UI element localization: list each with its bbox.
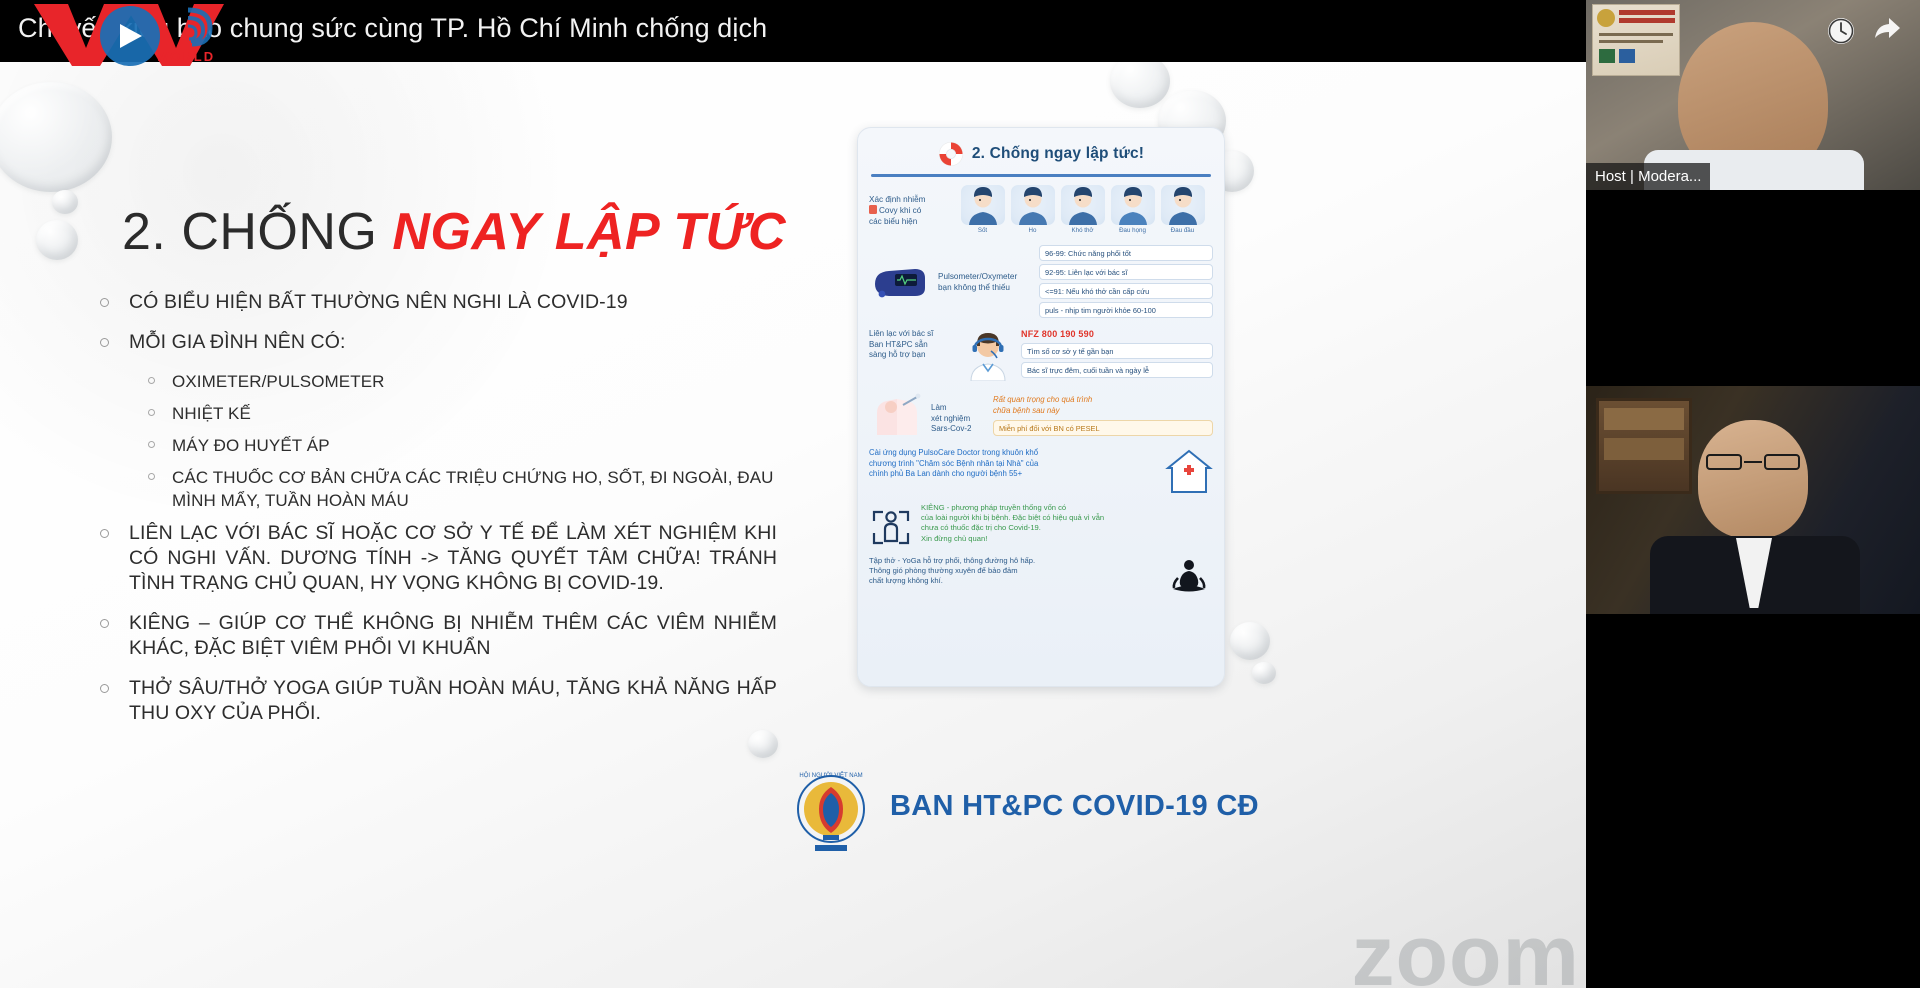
glasses-icon [1704,454,1802,470]
symptoms-lead-line3: các biểu hiện [869,216,953,227]
doctor-headset-icon [961,329,1015,381]
oximeter-value-row: 92-95: Liên lạc với bác sĩ [1039,264,1213,280]
infographic-title: 2. Chống ngay lập tức! [972,145,1144,163]
doctor-lead-line2: Ban HT&PC sẵn [869,340,955,351]
app-section: Cài ứng dụng PulsoCare Doctor trong khuô… [869,448,1213,494]
swab-test-icon [869,391,925,437]
infographic-header: 2. Chống ngay lập tức! [869,137,1213,171]
bullet-text: KIÊNG – GIÚP CƠ THỂ KHÔNG BỊ NHIỄM THÊM … [129,611,777,661]
slide-title: 2. CHỐNG NGAY LẬP TỨC [122,202,786,262]
testing-lead-line2: xét nghiệm [931,414,987,425]
pulse-oximeter-icon [869,262,931,302]
warning-icon [869,205,877,214]
symptom-caption: Đau đầu [1159,227,1206,234]
lifebuoy-icon [938,141,964,167]
host-name-label: Host | Modera... [1586,163,1710,190]
symptom-person-icon [1161,185,1205,225]
doctor-info-row: Tìm số cơ sở y tế gần bạn [1021,343,1213,359]
bullet-text: THỞ SÂU/THỞ YOGA GIÚP TUẦN HOÀN MÁU, TĂN… [129,676,777,726]
slide-title-accent: NGAY LẬP TỨC [392,203,786,261]
symptoms-lead: Xác định nhiễm Covy khi có các biểu hiện [869,185,953,227]
svg-text:WORLD: WORLD [156,49,215,64]
participant-video-rail: Host | Modera... [1586,0,1920,988]
shelf-row [1604,438,1684,460]
covid-infographic-card: 2. Chống ngay lập tức! Xác định nhiễm Co… [857,127,1225,687]
bullet-item: CÓ BIỂU HIỆN BẤT THƯỜNG NÊN NGHI LÀ COVI… [100,290,800,315]
symptoms-section: Xác định nhiễm Covy khi có các biểu hiện… [869,185,1213,234]
symptom-person-icon [1111,185,1155,225]
association-logo: HỘI NGƯỜI VIỆT NAM [793,767,869,859]
yoga-section: Tập thở - YoGa hỗ trợ phổi, thông đường … [869,556,1213,596]
bullet-item: MÁY ĐO HUYẾT ÁP [148,434,800,457]
video-tile-host[interactable]: Host | Modera... [1586,0,1920,190]
testing-note-line1: Rất quan trọng cho quá trình [993,395,1213,406]
symptom-person-icon [1061,185,1105,225]
oximeter-lead: Pulsometer/Oxymeter bạn không thể thiếu [938,271,1030,293]
bullet-marker-icon [100,684,109,693]
doctor-info-row: Bác sĩ trực đêm, cuối tuần và ngày lễ [1021,362,1213,378]
yoga-line2: Thông gió phòng thường xuyên để bảo đảm [869,566,1157,576]
testing-lead-line1: Làm [931,403,987,414]
home-care-icon [1165,448,1213,494]
zoom-webinar-screen: Chuyến kiều bào chung sức cùng TP. Hồ Ch… [0,0,1920,988]
testing-lead: Làm xét nghiệm Sars-Cov-2 [931,391,987,435]
symptom-item: Đau đầu [1159,185,1206,234]
bullet-marker-icon [100,338,109,347]
hotline-number: NFZ 800 190 590 [1021,329,1213,339]
bullet-item: THỞ SÂU/THỞ YOGA GIÚP TUẦN HOÀN MÁU, TĂN… [100,676,800,726]
testing-free-note: Miễn phí đối với BN có PESEL [993,420,1213,436]
app-text: Cài ứng dụng PulsoCare Doctor trong khuô… [869,448,1157,480]
app-line1: Cài ứng dụng PulsoCare Doctor trong khuô… [869,448,1157,459]
bubble-decor [0,82,112,192]
symptom-icon-row: SốtHoKhó thởĐau họngĐau đầu [959,185,1213,234]
symptom-caption: Sốt [959,227,1006,234]
video-tile-empty-upper[interactable] [1586,190,1920,386]
bullet-marker-icon [148,409,155,416]
bubble-decor [52,190,78,214]
bullet-text: LIÊN LẠC VỚI BÁC SĨ HOẶC CƠ SỞ Y TẾ ĐỂ L… [129,521,777,596]
kieng-line2: của loài người khi bị bệnh. Đặc biệt có … [921,513,1213,523]
oximeter-value-row: 96-99: Chức năng phổi tốt [1039,245,1213,261]
testing-note-line2: chữa bệnh sau này [993,406,1213,417]
video-tile-empty-lower[interactable] [1586,614,1920,988]
symptoms-lead-line2: Covy khi có [879,206,921,215]
bullet-marker-icon [148,473,155,480]
kieng-line1: KIÊNG - phương pháp truyền thống vốn có [921,503,1213,513]
yoga-text: Tập thở - YoGa hỗ trợ phổi, thông đường … [869,556,1157,587]
bullet-item: MỖI GIA ĐÌNH NÊN CÓ: [100,330,800,355]
video-tile-speaker[interactable] [1586,386,1920,614]
bullet-text: CÁC THUỐC CƠ BẢN CHỮA CÁC TRIỆU CHỨNG HO… [172,466,800,512]
kieng-line3: chưa có thuốc đặc trị cho Covid-19. [921,523,1213,533]
bullet-marker-icon [148,377,155,384]
bullet-text: CÓ BIỂU HIỆN BẤT THƯỜNG NÊN NGHI LÀ COVI… [129,290,628,315]
symptom-item: Ho [1009,185,1056,234]
share-icon[interactable] [1870,14,1904,48]
kieng-section: KIÊNG - phương pháp truyền thống vốn có … [869,503,1213,547]
slide-title-prefix: 2. CHỐNG [122,203,377,261]
bubble-decor [1110,62,1170,108]
clock-icon[interactable] [1824,14,1858,48]
bullet-marker-icon [148,441,155,448]
symptom-item: Sốt [959,185,1006,234]
oximeter-lead-line1: Pulsometer/Oxymeter [938,271,1030,282]
symptom-caption: Khó thở [1059,227,1106,234]
symptom-person-icon [1011,185,1055,225]
oximeter-value-list: 96-99: Chức năng phổi tốt92-95: Liên lạc… [1039,245,1213,318]
testing-section: Làm xét nghiệm Sars-Cov-2 Rất quan trọng… [869,391,1213,437]
symptom-caption: Đau họng [1109,227,1156,234]
symptom-item: Khó thở [1059,185,1106,234]
title-bar: Chuyến kiều bào chung sức cùng TP. Hồ Ch… [0,0,1586,62]
app-line2: chương trình "Chăm sóc Bệnh nhân tại Nhà… [869,459,1157,470]
bullet-item: KIÊNG – GIÚP CƠ THỂ KHÔNG BỊ NHIỄM THÊM … [100,611,800,661]
oximeter-value-row: puls - nhịp tim người khỏe 60-100 [1039,302,1213,318]
testing-lead-line3: Sars-Cov-2 [931,424,987,435]
doctor-lead-line3: sàng hỗ trợ bạn [869,350,955,361]
infographic-divider [871,174,1211,177]
bullet-item: LIÊN LẠC VỚI BÁC SĨ HOẶC CƠ SỞ Y TẾ ĐỂ L… [100,521,800,596]
bubble-decor [1252,662,1276,684]
oximeter-section: Pulsometer/Oxymeter bạn không thể thiếu … [869,245,1213,318]
bullet-text: MỖI GIA ĐÌNH NÊN CÓ: [129,330,346,355]
oximeter-value-row: <=91: Nếu khó thở cần cấp cứu [1039,283,1213,299]
oximeter-lead-line2: bạn không thể thiếu [938,282,1030,293]
bubble-decor [1230,622,1270,660]
shared-slide: 2. CHỐNG NGAY LẬP TỨC CÓ BIỂU HIỆN BẤT T… [0,62,1586,988]
app-line3: chính phủ Ba Lan dành cho người bệnh 55+ [869,469,1157,480]
bullet-text: NHIỆT KẾ [172,402,251,425]
bullet-marker-icon [100,298,109,307]
bullet-item: OXIMETER/PULSOMETER [148,370,800,393]
kieng-line4: Xin đừng chủ quan! [921,534,1213,544]
testing-notes: Rất quan trọng cho quá trình chữa bệnh s… [993,391,1213,436]
kieng-text: KIÊNG - phương pháp truyền thống vốn có … [921,503,1213,544]
svg-text:HỘI NGƯỜI VIỆT NAM: HỘI NGƯỜI VIỆT NAM [799,771,862,779]
yoga-line1: Tập thở - YoGa hỗ trợ phổi, thông đường … [869,556,1157,566]
zoom-watermark: zoom [1351,907,1580,988]
bullet-item: CÁC THUỐC CƠ BẢN CHỮA CÁC TRIỆU CHỨNG HO… [148,466,800,512]
speaker-person-head [1698,420,1808,538]
vov-world-logo: WORLD [28,0,233,68]
symptoms-lead-line1: Xác định nhiễm [869,194,953,205]
symptom-person-icon [961,185,1005,225]
bullet-item: NHIỆT KẾ [148,402,800,425]
symptom-item: Đau họng [1109,185,1156,234]
doctor-info: NFZ 800 190 590 Tìm số cơ sở y tế gần bạ… [1021,329,1213,381]
bullet-marker-icon [100,529,109,538]
doctor-contact-section: Liên lạc với bác sĩ Ban HT&PC sẵn sàng h… [869,329,1213,381]
host-shared-thumbnail [1592,4,1680,76]
bullet-text: MÁY ĐO HUYẾT ÁP [172,434,330,457]
bubble-decor [36,220,78,260]
stay-home-icon [869,503,913,547]
slide-bullet-list: CÓ BIỂU HIỆN BẤT THƯỜNG NÊN NGHI LÀ COVI… [100,290,800,741]
footer-organization: BAN HT&PC COVID-19 CĐ [890,790,1259,823]
bullet-marker-icon [100,619,109,628]
doctor-lead: Liên lạc với bác sĩ Ban HT&PC sẵn sàng h… [869,329,955,361]
yoga-line3: chất lượng không khí. [869,576,1157,586]
symptom-caption: Ho [1009,227,1056,234]
doctor-lead-line1: Liên lạc với bác sĩ [869,329,955,340]
bullet-text: OXIMETER/PULSOMETER [172,370,385,393]
shelf-row [1604,408,1684,430]
meditation-icon [1165,556,1213,596]
